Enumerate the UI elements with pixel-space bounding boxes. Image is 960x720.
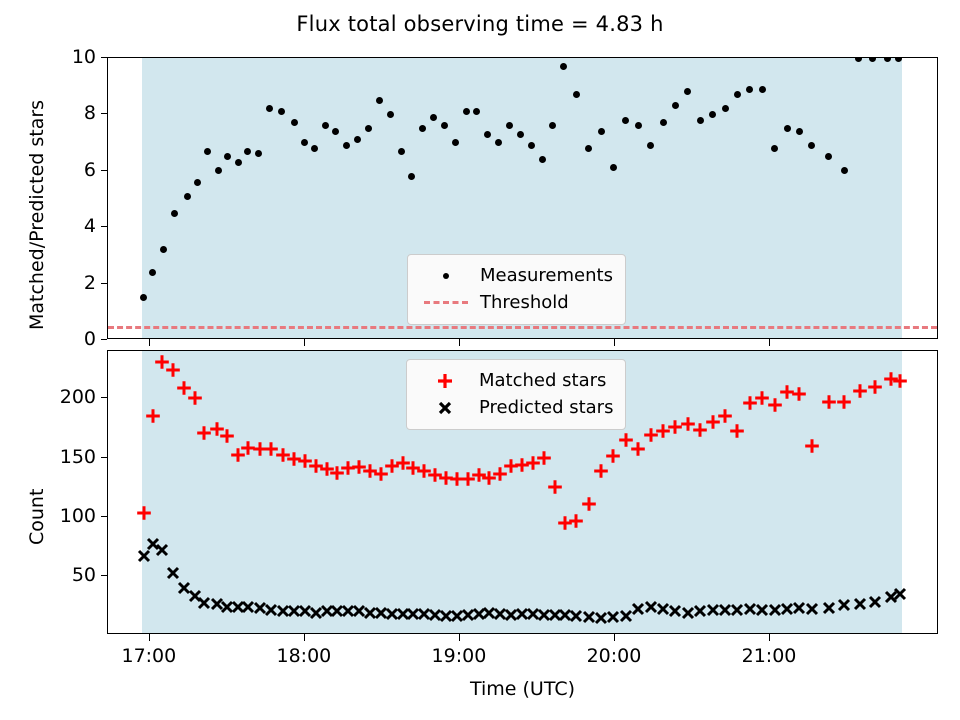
legend-label-predicted-stars: Predicted stars [473, 397, 613, 418]
data-point [224, 153, 231, 160]
data-point [787, 609, 788, 610]
x-tick [614, 634, 615, 641]
y-tick-label: 4 [84, 215, 96, 237]
data-point [248, 448, 249, 449]
data-point [762, 398, 763, 399]
data-point [517, 131, 524, 138]
dashed-line-icon [418, 301, 474, 304]
data-point [812, 609, 813, 610]
y-tick [101, 170, 108, 171]
data-point [184, 193, 191, 200]
data-point [565, 523, 566, 524]
data-point [775, 610, 776, 611]
data-point [555, 615, 556, 616]
x-tick-label: 18:00 [277, 645, 332, 667]
data-point [294, 459, 295, 460]
data-point [500, 474, 501, 475]
data-point [479, 475, 480, 476]
data-point [204, 603, 205, 604]
data-point [638, 449, 639, 450]
data-point [217, 429, 218, 430]
data-point [413, 468, 414, 469]
data-point [589, 617, 590, 618]
data-point [528, 142, 535, 149]
data-point [266, 105, 273, 112]
data-point [675, 427, 676, 428]
x-tick-label: 19:00 [432, 645, 487, 667]
data-point [771, 145, 778, 152]
data-point [565, 615, 566, 616]
x-tick [769, 339, 770, 346]
data-point [479, 614, 480, 615]
data-point [370, 613, 371, 614]
legend-label-matched-stars: Matched stars [473, 370, 606, 391]
data-point [613, 617, 614, 618]
data-point [446, 616, 447, 617]
data-point [697, 117, 704, 124]
data-point [860, 604, 861, 605]
data-point [750, 609, 751, 610]
data-point [750, 403, 751, 404]
data-point [539, 156, 546, 163]
y-tick-label: 2 [84, 272, 96, 294]
data-point [381, 474, 382, 475]
data-point [533, 463, 534, 464]
data-point [688, 424, 689, 425]
data-point [144, 556, 145, 557]
data-point [305, 611, 306, 612]
x-tick [459, 634, 460, 641]
data-point [327, 611, 328, 612]
data-point [413, 614, 414, 615]
data-point [663, 431, 664, 432]
xaxis-label: Time (UTC) [107, 678, 938, 700]
data-point [660, 119, 667, 126]
data-point [162, 362, 163, 363]
legend-label-measurements: Measurements [474, 265, 613, 286]
data-point [663, 609, 664, 610]
y-tick [101, 516, 108, 517]
data-point [844, 605, 845, 606]
data-point [387, 111, 394, 118]
bottom-panel-ylabel: Count [26, 489, 48, 545]
data-point [796, 128, 803, 135]
data-point [489, 613, 490, 614]
data-point [500, 614, 501, 615]
data-point [171, 210, 178, 217]
y-tick-label: 10 [72, 46, 96, 68]
data-point [573, 91, 580, 98]
data-point [194, 179, 201, 186]
y-tick-label: 8 [84, 102, 96, 124]
data-point [215, 167, 222, 174]
data-point [895, 57, 902, 62]
data-point [576, 521, 577, 522]
data-point [784, 125, 791, 132]
data-point [737, 431, 738, 432]
y-tick-label: 200 [60, 386, 96, 408]
data-point [337, 473, 338, 474]
data-point [725, 416, 726, 417]
dot-icon [418, 273, 474, 279]
data-point [452, 139, 459, 146]
data-point [626, 616, 627, 617]
data-point [647, 142, 654, 149]
legend-entry-predicted-stars: Predicted stars [417, 394, 613, 421]
threshold-line [108, 326, 937, 329]
x-tick [459, 339, 460, 346]
data-point [860, 391, 861, 392]
data-point [613, 456, 614, 457]
data-point [435, 615, 436, 616]
data-point [403, 614, 404, 615]
data-point [316, 466, 317, 467]
legend-entry-matched-stars: Matched stars [417, 367, 613, 394]
data-point [762, 610, 763, 611]
data-point [291, 119, 298, 126]
data-point [869, 57, 876, 62]
x-tick-label: 17:00 [121, 645, 176, 667]
data-point [544, 458, 545, 459]
data-point [294, 611, 295, 612]
data-point [244, 148, 251, 155]
matplotlib-figure: Flux total observing time = 4.83 h Match… [0, 0, 960, 720]
data-point [337, 611, 338, 612]
data-point [370, 471, 371, 472]
data-point [651, 607, 652, 608]
data-point [522, 614, 523, 615]
data-point [235, 159, 242, 166]
y-tick [101, 397, 108, 398]
y-tick-label: 100 [60, 505, 96, 527]
data-point [638, 609, 639, 610]
data-point [248, 607, 249, 608]
data-point [855, 57, 862, 62]
x-tick-label: 20:00 [587, 645, 642, 667]
y-tick [101, 113, 108, 114]
y-tick [101, 57, 108, 58]
data-point [173, 370, 174, 371]
data-point [799, 394, 800, 395]
data-point [533, 614, 534, 615]
plus-icon [417, 371, 473, 391]
top-panel-ylabel: Matched/Predicted stars [26, 100, 48, 330]
data-point [446, 478, 447, 479]
x-tick-label: 21:00 [742, 645, 797, 667]
data-point [153, 416, 154, 417]
y-tick [101, 226, 108, 227]
data-point [522, 465, 523, 466]
data-point [283, 611, 284, 612]
data-point [787, 392, 788, 393]
data-point [651, 435, 652, 436]
data-point [688, 613, 689, 614]
data-point [316, 613, 317, 614]
data-point [184, 388, 185, 389]
data-point [430, 114, 437, 121]
data-point [305, 461, 306, 462]
data-point [589, 504, 590, 505]
data-point [775, 405, 776, 406]
data-point [348, 611, 349, 612]
data-point [457, 479, 458, 480]
top-panel-legend: Measurements Threshold [407, 254, 626, 325]
data-point [376, 97, 383, 104]
y-tick-label: 6 [84, 159, 96, 181]
data-point [271, 610, 272, 611]
data-point [468, 479, 469, 480]
data-point [359, 467, 360, 468]
data-point [359, 611, 360, 612]
data-point [722, 105, 729, 112]
data-point [227, 607, 228, 608]
data-point [195, 398, 196, 399]
cross-icon [417, 398, 473, 418]
data-point [322, 122, 329, 129]
data-point [327, 469, 328, 470]
data-point [204, 148, 211, 155]
data-point [844, 402, 845, 403]
data-point [675, 611, 676, 612]
data-point [622, 117, 629, 124]
data-point [217, 604, 218, 605]
data-point [463, 108, 470, 115]
data-point [489, 478, 490, 479]
data-point [184, 588, 185, 589]
data-point [601, 471, 602, 472]
figure-title: Flux total observing time = 4.83 h [0, 12, 960, 36]
data-point [227, 436, 228, 437]
x-tick [614, 339, 615, 346]
data-point [626, 440, 627, 441]
top-panel-axes: Measurements Threshold [107, 57, 938, 339]
data-point [162, 550, 163, 551]
data-point [283, 455, 284, 456]
data-point [311, 145, 318, 152]
data-point [585, 145, 592, 152]
data-point [204, 433, 205, 434]
data-point [555, 487, 556, 488]
data-point [700, 430, 701, 431]
data-point [713, 422, 714, 423]
data-point [381, 613, 382, 614]
y-tick [101, 575, 108, 576]
y-tick [101, 457, 108, 458]
data-point [799, 608, 800, 609]
x-tick [769, 634, 770, 641]
data-point [392, 466, 393, 467]
data-point [900, 381, 901, 382]
data-point [511, 615, 512, 616]
data-point [173, 573, 174, 574]
y-tick [101, 283, 108, 284]
data-point [260, 608, 261, 609]
data-point [725, 610, 726, 611]
data-point [457, 616, 458, 617]
legend-entry-measurements: Measurements [418, 262, 613, 289]
data-point [829, 402, 830, 403]
data-point [484, 131, 491, 138]
legend-entry-threshold: Threshold [418, 289, 613, 316]
data-point [598, 128, 605, 135]
y-tick-label: 0 [84, 328, 96, 350]
bottom-panel-axes: Matched stars Predicted stars [107, 350, 938, 634]
bottom-panel-legend: Matched stars Predicted stars [406, 359, 626, 430]
data-point [700, 611, 701, 612]
data-point [424, 614, 425, 615]
data-point [398, 148, 405, 155]
data-point [875, 387, 876, 388]
data-point [511, 466, 512, 467]
x-tick [304, 339, 305, 346]
data-point [576, 616, 577, 617]
legend-label-threshold: Threshold [474, 292, 569, 313]
data-point [144, 513, 145, 514]
data-point [260, 449, 261, 450]
data-point [875, 602, 876, 603]
data-point [829, 608, 830, 609]
data-point [348, 468, 349, 469]
data-point [424, 471, 425, 472]
data-point [812, 446, 813, 447]
y-tick-label: 150 [60, 446, 96, 468]
x-tick [149, 634, 150, 641]
data-point [435, 475, 436, 476]
data-point [759, 86, 766, 93]
y-tick [101, 339, 108, 340]
data-point [709, 111, 716, 118]
data-point [403, 463, 404, 464]
data-point [365, 125, 372, 132]
data-point [271, 449, 272, 450]
data-point [900, 594, 901, 595]
x-tick [304, 634, 305, 641]
data-point [544, 615, 545, 616]
x-tick [149, 339, 150, 346]
data-point [468, 615, 469, 616]
data-point [635, 122, 642, 129]
data-point [713, 610, 714, 611]
y-tick-label: 50 [72, 564, 96, 586]
data-point [746, 86, 753, 93]
data-point [601, 618, 602, 619]
data-point [392, 614, 393, 615]
data-point [737, 610, 738, 611]
